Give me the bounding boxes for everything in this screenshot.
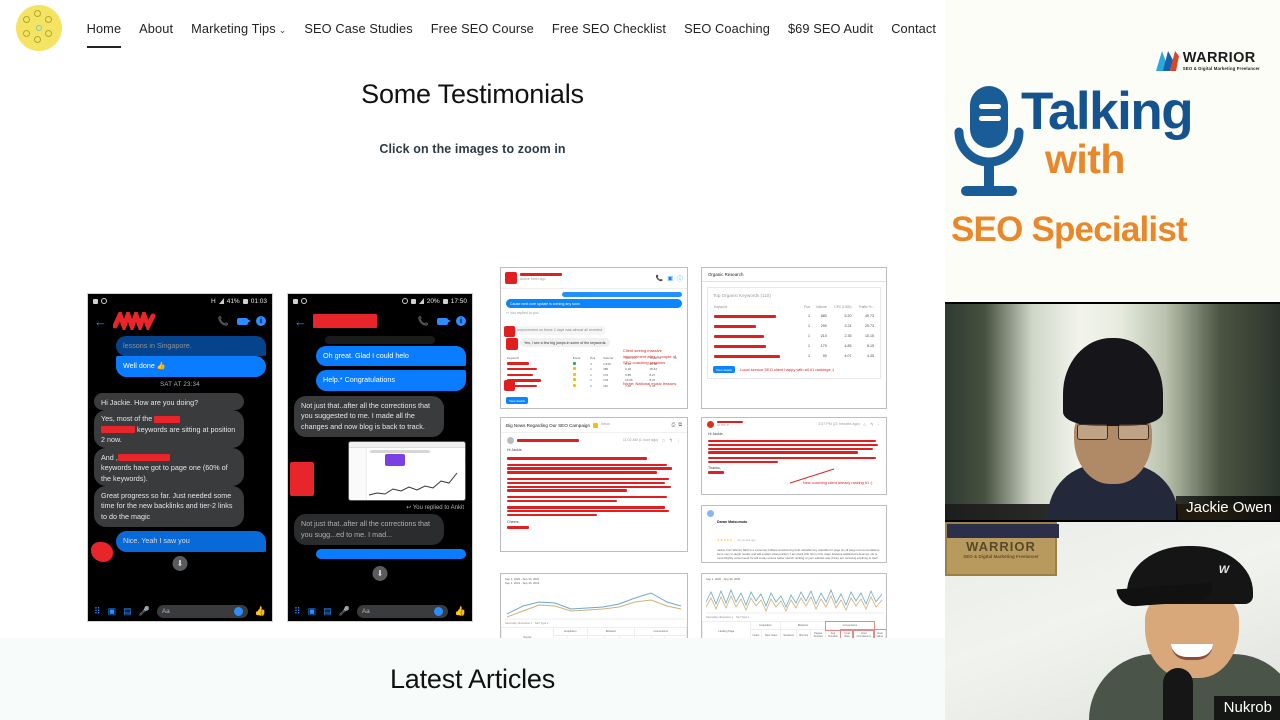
message-bubble: Help.* Congratulations (316, 370, 466, 390)
email-label: Inbox (601, 422, 610, 427)
attachment-screenshot[interactable] (348, 441, 466, 501)
more-icon[interactable]: ⋮ (676, 438, 681, 444)
email-paragraph (507, 464, 681, 474)
message-bubble: Cause next core update is coming any soo… (506, 299, 682, 308)
card-title: Top Organic Keywords (110) (713, 293, 875, 298)
nav-label: $69 SEO Audit (788, 21, 873, 36)
message-bubble-partial (325, 336, 435, 344)
nav-label: Home (87, 21, 122, 36)
conversation-header: ← 📞 i (288, 308, 472, 334)
title-line-1: Talking (1021, 88, 1280, 137)
redacted-contact-name (313, 314, 377, 328)
nav-label: Contact (891, 21, 936, 36)
video-call-icon[interactable]: ▣ (667, 275, 673, 282)
star-rating: ★★★★★ (717, 538, 733, 542)
nav-item-home[interactable]: Home (78, 17, 131, 40)
info-icon[interactable]: ⓘ (677, 274, 683, 283)
reply-icon[interactable]: ↰ (669, 438, 673, 444)
avatar (707, 510, 714, 517)
cap-logo-icon: W (1219, 564, 1229, 576)
organic-keywords-table: Keyword Pos Volume CPC (USD) Traffic % ↓… (713, 303, 875, 361)
gallery-icon[interactable]: ▤ (123, 607, 132, 616)
emoji-icon[interactable] (234, 607, 243, 616)
table-row: 12903.2420.73 (713, 321, 875, 331)
analytics-legend: Sep 1, 2020 - Sep 30, 2020 Sep 1, 2019 -… (501, 574, 687, 588)
avatar (504, 326, 515, 337)
nav-label: SEO Coaching (684, 21, 770, 36)
message-list: lessons in Singapore. Well done 👍 SAT AT… (88, 334, 272, 603)
thumbs-up-icon[interactable]: 👍 (455, 607, 466, 616)
latest-articles-section: Latest Articles (0, 638, 945, 720)
testimonial-screenshot-messenger-keywords[interactable]: Active 5min ago 📞 ▣ ⓘ Cause next core up… (500, 267, 688, 409)
star-icon[interactable]: ☆ (661, 438, 665, 444)
testimonial-phone-screenshot-2[interactable]: 20% 17:50 ← 📞 i Oh great. (287, 293, 473, 622)
message-bubble: Any improvement on these 2 days was almo… (506, 326, 606, 335)
expand-icon[interactable]: ⧉ (678, 422, 682, 428)
testimonials-section: Some Testimonials Click on the images to… (0, 55, 945, 638)
gallery-icon[interactable]: ▤ (323, 607, 332, 616)
annotation-text: Client seeing massive improvement after … (623, 348, 683, 366)
signal-icon (419, 298, 424, 304)
video-tile-nukrob[interactable]: WARRIOR SEO & Digital Marketing Freelanc… (945, 522, 1280, 720)
baseball-cap: W (1127, 546, 1253, 604)
view-details-button[interactable]: View details (713, 366, 735, 373)
battery-label: 20% (427, 298, 440, 305)
message-bubble: Hi Jackie. How are you doing? (94, 393, 244, 410)
dnd-icon (402, 298, 408, 304)
avatar (506, 338, 518, 350)
section-subtitle: Click on the images to zoom in (0, 142, 945, 156)
message-list: Oh great. Glad I could helo Help.* Congr… (288, 334, 472, 603)
input-placeholder: Aa (162, 608, 170, 615)
analytics-legend: Sep 1, 2020 - Sep 30, 2020 (702, 574, 886, 584)
testimonial-screenshot-organic-research[interactable]: Organic Research Top Organic Keywords (1… (701, 267, 887, 409)
message-composer: ⠿ ▣ ▤ 🎤 Aa 👍 (288, 601, 472, 621)
camera-icon[interactable]: ▣ (308, 607, 317, 616)
video-call-icon[interactable] (237, 318, 248, 325)
network-label: H (211, 298, 216, 305)
col-header: Keyword (713, 303, 801, 311)
camera-icon[interactable]: ▣ (108, 607, 117, 616)
more-icon[interactable]: ⋮ (877, 422, 882, 428)
nav-label: Marketing Tips (191, 21, 276, 36)
col-header: Traffic % ↓ (852, 303, 875, 311)
email-greeting: Hi Jackie, (708, 432, 880, 437)
clock-label: 17:50 (451, 298, 467, 305)
analytics-toolbar: Secondary dimension ▾Sort Type ▾ (501, 620, 687, 627)
input-placeholder: Aa (362, 608, 370, 615)
review-item: Daran Matsumoto ★★★★★ 10 months ago Jack… (702, 506, 886, 563)
nav-label: Free SEO Course (431, 21, 534, 36)
avatar (507, 437, 514, 444)
call-icon[interactable]: 📞 (418, 316, 429, 327)
annotation-text: Niche: National music lessons (623, 381, 683, 387)
video-call-icon[interactable] (437, 318, 448, 325)
avatar (707, 421, 714, 428)
microphone-icon (953, 82, 1025, 207)
shared-website-view: Home About Marketing Tips⌄ SEO Case Stud… (0, 0, 945, 720)
col-header: Volume (811, 303, 828, 311)
battery-label: 41% (227, 298, 240, 305)
call-icon[interactable]: 📞 (656, 275, 663, 282)
microphone-prop (1163, 668, 1193, 720)
wifi-icon (411, 299, 416, 304)
email-header: Big News Regarding Our SEO Campaign Inbo… (501, 418, 687, 433)
back-arrow-icon[interactable]: ← (294, 315, 307, 328)
table-row: 18805.2040.73 (713, 311, 875, 321)
email-greeting: Hi Jackie, (507, 448, 681, 453)
testimonial-screenshot-google-review[interactable]: Daran Matsumoto ★★★★★ 10 months ago Jack… (701, 505, 887, 563)
reply-icon[interactable]: ↰ (870, 422, 874, 428)
info-icon[interactable]: i (256, 316, 266, 326)
wall-plaque: WARRIOR SEO & Digital Marketing Freelanc… (945, 522, 1057, 576)
nav-label: SEO Case Studies (304, 21, 412, 36)
emoji-icon[interactable] (434, 607, 443, 616)
analytics-toolbar: Secondary dimension ▾Sort Type ▾ (702, 614, 886, 621)
participant-name-badge: Jackie Owen (1176, 496, 1280, 520)
annotation-text: New coaching client already ranking #1 :… (803, 481, 883, 487)
warrior-logo: WARRIOR SEO & Digital Marketing Freelanc… (1154, 50, 1260, 72)
microphone-icon[interactable]: 🎤 (339, 607, 350, 616)
battery-icon (443, 299, 448, 304)
message-bubble: And ,keywords have got to page one (60% … (94, 448, 244, 486)
message-bubble: Yes, most of the keywords are sitting at… (94, 410, 244, 447)
title-line-2: with (1045, 139, 1280, 180)
participant-name-badge: Nukrob (1214, 696, 1280, 720)
apps-grid-icon[interactable]: ⠿ (294, 607, 301, 616)
testimonial-screenshot-analytics-2[interactable]: Sep 1, 2020 - Sep 30, 2020 Secondary dim… (701, 573, 887, 648)
microphone-icon[interactable]: 🎤 (139, 607, 150, 616)
message-bubble-partial (316, 549, 466, 559)
conversation-header: ← 📞 i (88, 308, 272, 334)
brand-name: WARRIOR (1183, 51, 1260, 66)
site-logo[interactable] (0, 5, 78, 51)
scroll-to-bottom-button[interactable]: ⬇ (373, 566, 388, 581)
print-icon[interactable]: ⎙ (671, 422, 675, 428)
email-body: 11:02 AM (1 hour ago) ☆ ↰ ⋮ Hi Jackie, (501, 433, 687, 533)
avatar (505, 272, 517, 284)
show-branding-panel: WARRIOR SEO & Digital Marketing Freelanc… (945, 0, 1280, 302)
nav-item-free-seo-checklist[interactable]: Free SEO Checklist (543, 17, 675, 40)
apps-grid-icon[interactable]: ⠿ (94, 607, 101, 616)
thumbs-up-icon[interactable]: 👍 (255, 607, 266, 616)
nav-item-seo-coaching[interactable]: SEO Coaching (675, 17, 779, 40)
message-bubble: Not just that..after all the corrections… (294, 396, 444, 437)
nav-item-seo-case-studies[interactable]: SEO Case Studies (295, 17, 421, 40)
redaction-blob (91, 542, 113, 562)
chevron-down-icon: ⌄ (279, 25, 287, 35)
email-subject: Big News Regarding Our SEO Campaign (506, 423, 590, 428)
annotation-text: Local service SEO client happy with all … (740, 367, 834, 373)
section-title: Latest Articles (390, 664, 555, 695)
scroll-to-bottom-button[interactable]: ⬇ (173, 556, 188, 571)
table-row: 11704.858.15 (713, 341, 875, 351)
page-title: Some Testimonials (0, 79, 945, 110)
analytics-line-chart (706, 584, 884, 614)
redaction-blob (290, 462, 314, 496)
warrior-bolt-icon (1154, 50, 1180, 72)
redacted-contact-name (113, 312, 159, 330)
reviewer-name: Daran Matsumoto (717, 520, 747, 524)
show-title: Talking with (1021, 88, 1280, 180)
message-bubble: Not just that..after all the corrections… (294, 514, 444, 545)
message-input[interactable]: Aa (357, 605, 448, 618)
video-tile-jackie-owen[interactable]: Jackie Owen (945, 304, 1280, 520)
nav-label: Free SEO Checklist (552, 21, 666, 36)
message-composer: ⠿ ▣ ▤ 🎤 Aa 👍 (88, 601, 272, 621)
label-icon (593, 423, 598, 428)
info-icon[interactable]: i (456, 316, 466, 326)
glasses-icon (1075, 424, 1151, 440)
table-row: 12102.3510.15 (713, 331, 875, 341)
nav-item-contact[interactable]: Contact (882, 17, 945, 40)
message-bubble: lessons in Singapore. (116, 336, 266, 356)
back-arrow-icon[interactable]: ← (94, 315, 107, 328)
nav-item-marketing-tips[interactable]: Marketing Tips⌄ (182, 17, 295, 40)
call-icon[interactable]: 📞 (218, 316, 229, 327)
col-header: CPC (USD) (828, 303, 853, 311)
nav-item-free-seo-course[interactable]: Free SEO Course (422, 17, 543, 40)
participant-figure: W (1119, 540, 1269, 720)
beanie-hat (1063, 338, 1163, 426)
nav-label: About (139, 21, 173, 36)
plaque-brand: WARRIOR (966, 539, 1036, 554)
table-row: 1904.074.35 (713, 351, 875, 361)
brand-tagline: SEO & Digital Marketing Freelancer (1183, 67, 1260, 71)
analytics-line-chart (505, 588, 685, 620)
message-bubble: Yes, I see a few big jumps in some of th… (520, 338, 610, 347)
phone-status-bar: 20% 17:50 (288, 294, 472, 308)
flower-dots-logo-icon (16, 5, 62, 51)
reply-note: ↩ You replied to you (506, 311, 682, 316)
phone-status-bar: H 41% 01:03 (88, 294, 272, 308)
testimonial-screenshot-analytics-1[interactable]: Sep 1, 2020 - Sep 30, 2020 Sep 1, 2019 -… (500, 573, 688, 648)
participant-figure (1054, 324, 1172, 520)
nav-item-about[interactable]: About (130, 17, 182, 40)
col-header: Pos (801, 303, 811, 311)
conversation-header: Active 5min ago 📞 ▣ ⓘ (501, 268, 687, 289)
clock-label: 01:03 (251, 298, 267, 305)
site-navbar: Home About Marketing Tips⌄ SEO Case Stud… (0, 0, 945, 55)
title-line-3: SEO Specialist (951, 212, 1280, 247)
signal-icon (219, 298, 224, 304)
avatar (504, 380, 515, 391)
nav-links: Home About Marketing Tips⌄ SEO Case Stud… (78, 15, 945, 40)
message-bubble: Oh great. Glad I could helo (316, 346, 466, 366)
message-bubble: Well done 👍 (116, 356, 266, 376)
screen: Home About Marketing Tips⌄ SEO Case Stud… (0, 0, 1280, 720)
nav-item-seo-audit[interactable]: $69 SEO Audit (779, 17, 882, 40)
testimonial-screenshot-email-campaign[interactable]: Big News Regarding Our SEO Campaign Inbo… (500, 417, 688, 552)
view-details-button[interactable]: View details (506, 397, 528, 404)
email-signoff: Cheers, (507, 520, 681, 525)
organic-keywords-card: Top Organic Keywords (110) Keyword Pos V… (707, 287, 881, 379)
message-bubble: Nice. Yeah I saw you (116, 531, 266, 551)
star-icon[interactable]: ☆ (863, 422, 867, 428)
battery-icon (243, 299, 248, 304)
testimonial-phone-screenshot-1[interactable]: H 41% 01:03 ← 📞 i (87, 293, 273, 622)
video-call-column: WARRIOR SEO & Digital Marketing Freelanc… (945, 0, 1280, 720)
testimonial-screenshot-email-reply[interactable]: to me ▾ 2:57 PM (21 minutes ago) ☆ ↰ ⋮ H… (701, 417, 887, 495)
message-timestamp: SAT AT 23:34 (94, 382, 266, 388)
message-input[interactable]: Aa (157, 605, 248, 618)
message-bubble: Great progress so far. Just needed some … (94, 486, 244, 527)
reply-note: ↩ You replied to Ankit (296, 504, 464, 511)
plaque-tagline: SEO & Digital Marketing Freelancer (963, 554, 1039, 559)
panel-title: Organic Research (702, 268, 886, 282)
